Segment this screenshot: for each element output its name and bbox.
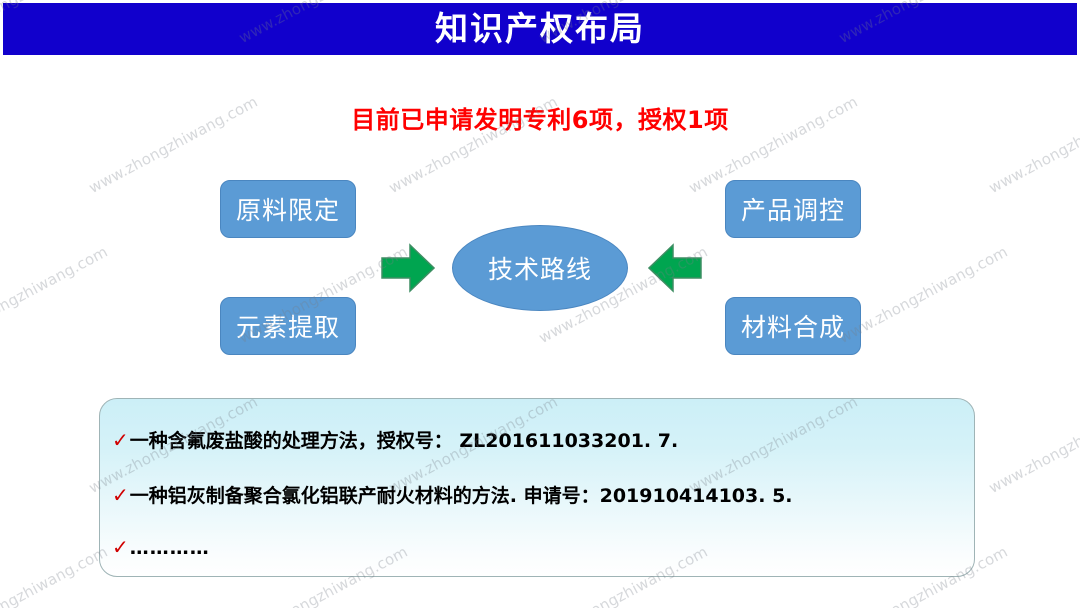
- patent-item-text: 一种铝灰制备聚合氯化铝联产耐火材料的方法. 申请号：201910414103. …: [130, 481, 793, 508]
- list-item: ✓ 一种含氟废盐酸的处理方法，授权号： ZL201611033201. 7.: [112, 426, 678, 453]
- patent-item-text: 一种含氟废盐酸的处理方法，授权号： ZL201611033201. 7.: [130, 426, 678, 453]
- list-item: ✓ …………: [112, 537, 210, 559]
- subtitle-text: 目前已申请发明专利6项，授权1项: [0, 100, 1080, 135]
- arrow-left-icon: [648, 243, 702, 293]
- diagram-center-label: 技术路线: [488, 250, 592, 286]
- watermark-text: www.zhongzhiwang.com: [836, 242, 1011, 346]
- page-title: 知识产权布局: [3, 3, 1077, 55]
- diagram-node-raw-material[interactable]: 原料限定: [220, 180, 356, 238]
- slide-canvas: 知识产权布局 目前已申请发明专利6项，授权1项 原料限定 元素提取 产品调控 材…: [0, 0, 1080, 608]
- diagram-node-label: 产品调控: [741, 191, 845, 227]
- watermark-text: www.zhongzhiwang.com: [0, 242, 111, 346]
- header-banner: 知识产权布局: [3, 3, 1077, 55]
- diagram-node-product-control[interactable]: 产品调控: [725, 180, 861, 238]
- diagram-node-label: 元素提取: [236, 308, 340, 344]
- diagram-node-element-extraction[interactable]: 元素提取: [220, 297, 356, 355]
- diagram-node-material-synthesis[interactable]: 材料合成: [725, 297, 861, 355]
- diagram-center-node-technology-route[interactable]: 技术路线: [452, 225, 628, 311]
- check-icon: ✓: [112, 430, 129, 450]
- patent-list-box: ✓ 一种含氟废盐酸的处理方法，授权号： ZL201611033201. 7. ✓…: [99, 398, 975, 577]
- watermark-text: www.zhongzhiwang.com: [0, 542, 111, 608]
- patent-item-text: …………: [130, 537, 210, 559]
- check-icon: ✓: [112, 485, 129, 505]
- diagram-node-label: 原料限定: [236, 191, 340, 227]
- list-item: ✓ 一种铝灰制备聚合氯化铝联产耐火材料的方法. 申请号：201910414103…: [112, 481, 793, 508]
- watermark-text: www.zhongzhiwang.com: [986, 392, 1080, 496]
- diagram-node-label: 材料合成: [741, 308, 845, 344]
- check-icon: ✓: [112, 537, 129, 557]
- arrow-right-icon: [381, 243, 435, 293]
